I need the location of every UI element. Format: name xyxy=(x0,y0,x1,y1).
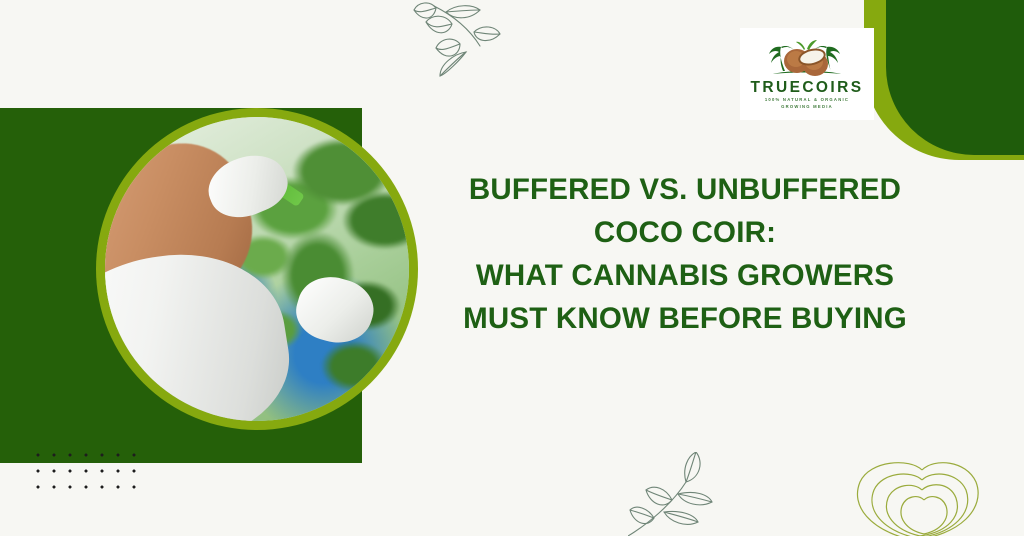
headline-line-3: WHAT CANNABIS GROWERS xyxy=(425,254,945,297)
top-right-green-shape xyxy=(864,0,1024,170)
tree-rings-icon xyxy=(836,426,1016,536)
headline-line-2: COCO COIR: xyxy=(425,211,945,254)
top-right-dark-layer xyxy=(886,0,1024,155)
hero-photo xyxy=(105,117,409,421)
headline-line-1: BUFFERED VS. UNBUFFERED xyxy=(425,168,945,211)
headline-line-4: MUST KNOW BEFORE BUYING xyxy=(425,297,945,340)
leaf-branch-icon xyxy=(628,452,768,536)
coconut-palm-logo-icon xyxy=(769,37,845,79)
dot-grid-pattern xyxy=(30,447,142,489)
logo-wordmark: TRUECOIRS xyxy=(751,80,864,96)
logo-tagline-line2: GROWING MEDIA xyxy=(781,104,833,110)
logo-tagline-line1: 100% NATURAL & ORGANIC xyxy=(765,97,849,103)
top-right-lime-layer xyxy=(864,0,1024,160)
leaf-branch-icon xyxy=(396,2,516,78)
photo-ring xyxy=(96,108,418,430)
brand-logo[interactable]: TRUECOIRS 100% NATURAL & ORGANIC GROWING… xyxy=(740,28,874,120)
page-title: BUFFERED VS. UNBUFFERED COCO COIR: WHAT … xyxy=(425,168,945,340)
